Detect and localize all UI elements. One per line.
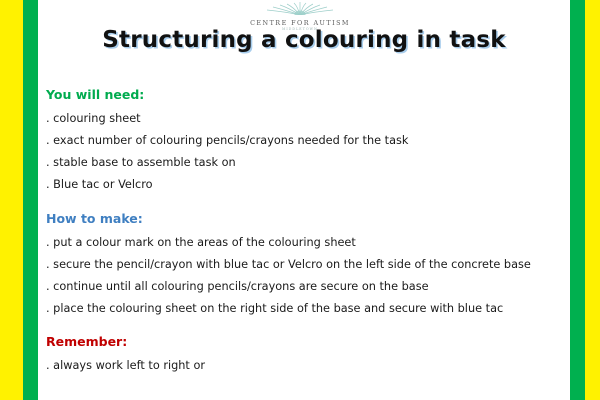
list-item: . colouring sheet: [46, 108, 566, 130]
section-heading-you-will-need: You will need:: [46, 86, 566, 104]
section-spacer: [46, 196, 566, 210]
bullet-list-remember: . always work left to right or: [46, 355, 566, 377]
list-item: . always work left to right or: [46, 355, 566, 377]
list-item: . continue until all colouring pencils/c…: [46, 276, 566, 298]
border-stripe-left-green: [23, 0, 38, 400]
list-item: . stable base to assemble task on: [46, 152, 566, 174]
section-remember: Remember: . always work left to right or: [46, 333, 566, 377]
border-stripe-right-yellow: [585, 0, 600, 400]
fan-starburst-logo-icon: [263, 0, 337, 19]
section-heading-how-to-make: How to make:: [46, 210, 566, 228]
slide-page: CENTRE FOR AUTISM MIDDLETOWN Structuring…: [0, 0, 600, 400]
border-stripe-right-green: [570, 0, 585, 400]
section-you-will-need: You will need: . colouring sheet . exact…: [46, 86, 566, 196]
list-item: . secure the pencil/crayon with blue tac…: [46, 254, 566, 276]
list-item: . exact number of colouring pencils/cray…: [46, 130, 566, 152]
list-item: . Blue tac or Velcro: [46, 174, 566, 196]
logo-title-text: CENTRE FOR AUTISM: [250, 19, 350, 27]
content-body: You will need: . colouring sheet . exact…: [46, 86, 566, 377]
section-heading-remember: Remember:: [46, 333, 566, 351]
list-item: . put a colour mark on the areas of the …: [46, 232, 566, 254]
section-how-to-make: How to make: . put a colour mark on the …: [46, 210, 566, 320]
page-title: Structuring a colouring in task: [38, 27, 570, 53]
bullet-list-how-to-make: . put a colour mark on the areas of the …: [46, 232, 566, 320]
border-stripe-left-yellow: [0, 0, 23, 400]
section-spacer: [46, 320, 566, 333]
bullet-list-you-will-need: . colouring sheet . exact number of colo…: [46, 108, 566, 196]
list-item: . place the colouring sheet on the right…: [46, 298, 566, 320]
organisation-logo: CENTRE FOR AUTISM MIDDLETOWN: [0, 0, 600, 24]
